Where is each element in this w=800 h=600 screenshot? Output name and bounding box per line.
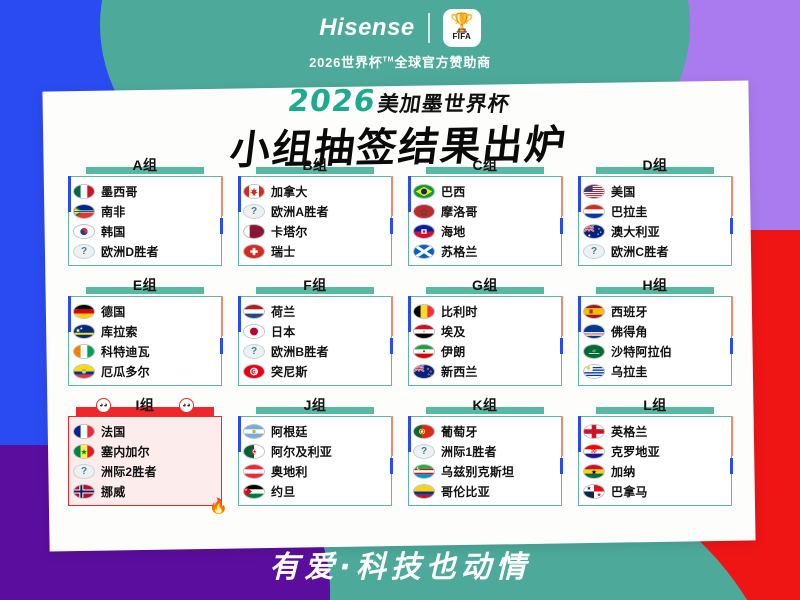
- group-title: L组: [636, 395, 674, 415]
- team-name: 日本: [271, 323, 295, 340]
- team-name: 德国: [101, 303, 125, 320]
- team-row: 挪威: [73, 481, 216, 501]
- flag-icon-mexico: [73, 184, 95, 199]
- group-card-f: F组荷兰日本?欧洲B胜者突尼斯: [238, 274, 392, 386]
- sponsor-prefix: 2026世界杯: [309, 55, 383, 70]
- group-team-list: 美国巴拉圭澳大利亚?欧洲C胜者: [578, 176, 732, 266]
- team-row: ?欧洲D胜者: [73, 241, 216, 261]
- trophy-icon: 🏆: [450, 16, 474, 32]
- flag-icon-switzerland: [243, 244, 265, 259]
- flag-icon-uzbekistan: [413, 463, 435, 478]
- flag-icon-new-zealand: [413, 364, 435, 379]
- team-name: 欧洲C胜者: [611, 243, 669, 260]
- team-name: 佛得角: [611, 323, 648, 340]
- flag-icon-scotland: [413, 244, 435, 259]
- team-name: 摩洛哥: [441, 203, 478, 220]
- group-card-e: E组德国库拉索科特迪瓦厄瓜多尔: [68, 274, 222, 386]
- team-name: 欧洲A胜者: [271, 203, 329, 220]
- flag-icon-brazil: [413, 184, 435, 199]
- flag-icon-unknown: ?: [413, 444, 435, 459]
- team-name: 苏格兰: [441, 243, 478, 260]
- flag-icon-ghana: [583, 464, 605, 479]
- flag-icon-unknown: ?: [583, 244, 605, 259]
- group-team-list: 阿根廷阿尔及利亚奥地利约旦: [238, 416, 392, 506]
- team-name: 乌拉圭: [611, 363, 648, 380]
- team-name: 加拿大: [271, 183, 308, 200]
- group-card-k: K组葡萄牙?洲际1胜者乌兹别克斯坦哥伦比亚: [408, 394, 562, 506]
- flag-icon-jordan: [243, 484, 265, 499]
- accent-tick: [560, 338, 563, 354]
- team-row: 墨西哥: [73, 181, 216, 201]
- flag-icon-norway: [73, 484, 95, 499]
- team-name: 库拉索: [101, 323, 138, 340]
- team-row: ?欧洲C胜者: [583, 241, 726, 261]
- group-card-h: H组西班牙佛得角الله沙特阿拉伯乌拉圭: [578, 274, 732, 386]
- team-name: 欧洲D胜者: [101, 243, 159, 260]
- team-name: 突尼斯: [271, 363, 308, 380]
- team-row: 比利时: [413, 301, 556, 321]
- flag-icon-haiti: [413, 224, 435, 239]
- group-card-g: G组比利时埃及伊朗新西兰: [408, 274, 562, 386]
- team-row: 韩国: [73, 221, 216, 241]
- flag-icon-portugal: [413, 424, 435, 439]
- team-name: 埃及: [441, 323, 465, 340]
- team-name: 哥伦比亚: [441, 483, 490, 500]
- accent-tick: [730, 218, 733, 234]
- team-name: 挪威: [101, 483, 125, 500]
- team-name: 巴拉圭: [611, 203, 648, 220]
- group-header-d: D组: [578, 154, 732, 176]
- team-name: 澳大利亚: [611, 223, 660, 240]
- group-team-list: 葡萄牙?洲际1胜者乌兹别克斯坦哥伦比亚: [408, 416, 562, 506]
- team-row: 佛得角: [583, 321, 726, 341]
- footer-slogan: 有爱·科技也动情: [0, 542, 800, 586]
- team-name: 洲际1胜者: [441, 443, 497, 460]
- team-row: ?欧洲B胜者: [243, 341, 386, 361]
- flag-icon-france: [73, 424, 95, 439]
- flag-icon-south-korea: [73, 224, 95, 239]
- sponsor-suffix: 全球官方赞助商: [394, 55, 491, 70]
- team-name: 南非: [101, 203, 125, 220]
- flag-icon-colombia: [413, 484, 435, 499]
- main-card: 2026美加墨世界杯 小组抽签结果出炉 A组墨西哥南非韩国?欧洲D胜者B组加拿大…: [42, 80, 755, 551]
- team-name: 法国: [101, 423, 125, 440]
- flag-icon-argentina: [243, 424, 265, 439]
- team-row: 荷兰: [243, 301, 386, 321]
- team-name: 韩国: [101, 223, 125, 240]
- group-title: C组: [465, 155, 504, 175]
- team-name: 英格兰: [611, 423, 648, 440]
- group-team-list: 德国库拉索科特迪瓦厄瓜多尔: [68, 296, 222, 386]
- group-card-l: L组英格兰克罗地亚加纳巴拿马: [578, 394, 732, 506]
- accent-tick: [220, 338, 223, 354]
- group-team-list: 西班牙佛得角الله沙特阿拉伯乌拉圭: [578, 296, 732, 386]
- team-row: 英格兰: [583, 421, 726, 441]
- team-row: 哥伦比亚: [413, 481, 556, 501]
- team-row: 日本: [243, 321, 386, 341]
- group-title: B组: [295, 155, 334, 175]
- team-row: 巴拿马: [583, 481, 726, 501]
- flag-icon-tunisia: [243, 364, 265, 379]
- group-header-k: K组: [408, 394, 562, 416]
- group-header-b: B组: [238, 154, 392, 176]
- group-team-list: 荷兰日本?欧洲B胜者突尼斯: [238, 296, 392, 386]
- flag-icon-panama: [583, 484, 605, 499]
- team-name: 美国: [611, 183, 635, 200]
- group-title: F组: [296, 275, 334, 295]
- sponsor-line: 2026世界杯TM全球官方赞助商: [0, 52, 800, 71]
- flag-icon-croatia: [583, 444, 605, 459]
- group-header-h: H组: [578, 274, 732, 296]
- team-name: 厄瓜多尔: [101, 363, 150, 380]
- team-name: 加纳: [611, 463, 635, 480]
- team-row: 埃及: [413, 321, 556, 341]
- team-name: 卡塔尔: [271, 223, 308, 240]
- fire-icon: 🔥: [209, 499, 228, 514]
- team-row: 澳大利亚: [583, 221, 726, 241]
- team-row: 阿根廷: [243, 421, 386, 441]
- team-row: 南非: [73, 201, 216, 221]
- flag-icon-netherlands: [243, 304, 265, 319]
- group-card-b: B组加拿大?欧洲A胜者卡塔尔瑞士: [238, 154, 392, 266]
- accent-tick: [390, 338, 393, 354]
- team-row: 克罗地亚: [583, 441, 726, 461]
- group-header-e: E组: [68, 274, 222, 296]
- team-name: 荷兰: [271, 303, 295, 320]
- team-name: 比利时: [441, 303, 478, 320]
- celebration-face-icon-right: ◕◕: [179, 398, 194, 413]
- flag-icon-austria: [243, 464, 265, 479]
- group-header-a: A组: [68, 154, 222, 176]
- team-name: 约旦: [271, 483, 295, 500]
- svg-text:الله: الله: [592, 348, 597, 352]
- team-row: ?洲际2胜者: [73, 461, 216, 481]
- team-row: 乌兹别克斯坦: [413, 461, 556, 481]
- team-name: 乌兹别克斯坦: [441, 463, 514, 480]
- team-name: 伊朗: [441, 343, 465, 360]
- groups-grid: A组墨西哥南非韩国?欧洲D胜者B组加拿大?欧洲A胜者卡塔尔瑞士C组巴西摩洛哥海地…: [68, 154, 732, 506]
- team-name: 巴西: [441, 183, 465, 200]
- team-row: 库拉索: [73, 321, 216, 341]
- flag-icon-unknown: ?: [73, 244, 95, 259]
- team-row: ?欧洲A胜者: [243, 201, 386, 221]
- team-row: 厄瓜多尔: [73, 361, 216, 381]
- group-header-c: C组: [408, 154, 562, 176]
- flag-icon-unknown: ?: [243, 204, 265, 219]
- group-card-d: D组美国巴拉圭澳大利亚?欧洲C胜者: [578, 154, 732, 266]
- group-team-list: 巴西摩洛哥海地苏格兰: [408, 176, 562, 266]
- flag-icon-saudi-arabia: الله: [583, 343, 605, 358]
- accent-tick: [390, 218, 393, 234]
- title-year: 2026: [285, 84, 377, 119]
- team-row: الله沙特阿拉伯: [583, 341, 726, 361]
- group-team-list: 英格兰克罗地亚加纳巴拿马: [578, 416, 732, 506]
- flag-icon-egypt: [413, 324, 435, 339]
- team-row: 塞内加尔: [73, 441, 216, 461]
- group-card-i: ◕◕◕◕I组🔥法国塞内加尔?洲际2胜者挪威: [68, 394, 222, 506]
- team-row: 伊朗: [413, 341, 556, 361]
- flag-icon-morocco: [413, 204, 435, 219]
- group-title: G组: [465, 275, 505, 295]
- flag-icon-belgium: [413, 304, 435, 319]
- flag-icon-paraguay: [583, 204, 605, 219]
- flag-icon-algeria: [243, 444, 265, 459]
- team-row: 加纳: [583, 461, 726, 481]
- flag-icon-usa: [583, 184, 605, 199]
- header: Hisense 🏆 FIFA 2026世界杯TM全球官方赞助商: [0, 8, 800, 71]
- team-name: 阿根廷: [271, 423, 308, 440]
- flag-icon-senegal: [73, 444, 95, 459]
- flag-icon-australia: [583, 223, 605, 238]
- team-name: 巴拿马: [611, 483, 648, 500]
- team-row: 瑞士: [243, 241, 386, 261]
- flag-icon-curacao: [73, 324, 95, 339]
- group-title: I组: [129, 395, 162, 415]
- flag-icon-qatar: [243, 224, 265, 239]
- team-name: 瑞士: [271, 243, 295, 260]
- accent-tick: [730, 338, 733, 354]
- flag-icon-japan: [243, 324, 265, 339]
- group-team-list: 比利时埃及伊朗新西兰: [408, 296, 562, 386]
- flag-icon-unknown: ?: [73, 464, 95, 479]
- team-row: 突尼斯: [243, 361, 386, 381]
- accent-tick: [220, 218, 223, 234]
- flag-icon-unknown: ?: [243, 344, 265, 359]
- group-header-j: J组: [238, 394, 392, 416]
- team-row: 苏格兰: [413, 241, 556, 261]
- group-card-a: A组墨西哥南非韩国?欧洲D胜者: [68, 154, 222, 266]
- flag-icon-cape-verde: [583, 324, 605, 339]
- group-title: H组: [635, 275, 674, 295]
- group-card-j: J组阿根廷阿尔及利亚奥地利约旦: [238, 394, 392, 506]
- team-row: 约旦: [243, 481, 386, 501]
- team-row: 奥地利: [243, 461, 386, 481]
- team-row: 新西兰: [413, 361, 556, 381]
- footer: 有爱·科技也动情: [0, 542, 800, 586]
- flag-icon-canada: [243, 184, 265, 199]
- fifa-label: FIFA: [453, 32, 472, 41]
- sponsor-tm: TM: [383, 57, 395, 64]
- team-row: 加拿大: [243, 181, 386, 201]
- accent-tick: [560, 458, 563, 474]
- brand-divider: [428, 13, 430, 43]
- team-name: 洲际2胜者: [101, 463, 157, 480]
- team-row: 德国: [73, 301, 216, 321]
- team-name: 西班牙: [611, 303, 648, 320]
- flag-icon-iran: [413, 344, 435, 359]
- team-row: 巴西: [413, 181, 556, 201]
- flag-icon-germany: [73, 304, 95, 319]
- team-name: 奥地利: [271, 463, 308, 480]
- team-row: 科特迪瓦: [73, 341, 216, 361]
- group-team-list: 墨西哥南非韩国?欧洲D胜者: [68, 176, 222, 266]
- team-row: 巴拉圭: [583, 201, 726, 221]
- team-row: 西班牙: [583, 301, 726, 321]
- group-title: E组: [126, 275, 164, 295]
- group-header-l: L组: [578, 394, 732, 416]
- hisense-logo: Hisense: [319, 16, 415, 40]
- team-name: 墨西哥: [101, 183, 138, 200]
- group-title: J组: [297, 395, 334, 415]
- team-name: 塞内加尔: [101, 443, 150, 460]
- team-name: 沙特阿拉伯: [611, 343, 672, 360]
- team-row: ?洲际1胜者: [413, 441, 556, 461]
- flag-icon-spain: [583, 304, 605, 319]
- team-name: 新西兰: [441, 363, 478, 380]
- team-row: 摩洛哥: [413, 201, 556, 221]
- accent-tick: [560, 218, 563, 234]
- accent-tick: [390, 458, 393, 474]
- team-row: 卡塔尔: [243, 221, 386, 241]
- flag-icon-uruguay: [583, 364, 605, 379]
- accent-tick: [730, 458, 733, 474]
- group-card-c: C组巴西摩洛哥海地苏格兰: [408, 154, 562, 266]
- group-title: K组: [465, 395, 504, 415]
- team-row: 葡萄牙: [413, 421, 556, 441]
- group-title: D组: [635, 155, 674, 175]
- team-row: 乌拉圭: [583, 361, 726, 381]
- team-name: 欧洲B胜者: [271, 343, 329, 360]
- team-row: 阿尔及利亚: [243, 441, 386, 461]
- team-name: 葡萄牙: [441, 423, 478, 440]
- group-header-f: F组: [238, 274, 392, 296]
- team-name: 克罗地亚: [611, 443, 660, 460]
- group-title: A组: [125, 155, 164, 175]
- flag-icon-ivory-coast: [73, 344, 95, 359]
- group-team-list: 加拿大?欧洲A胜者卡塔尔瑞士: [238, 176, 392, 266]
- team-name: 阿尔及利亚: [271, 443, 332, 460]
- group-header-g: G组: [408, 274, 562, 296]
- flag-icon-england: [583, 424, 605, 439]
- celebration-face-icon-left: ◕◕: [96, 398, 111, 413]
- team-name: 科特迪瓦: [101, 343, 150, 360]
- fifa-badge: 🏆 FIFA: [443, 9, 481, 47]
- team-name: 海地: [441, 223, 465, 240]
- team-row: 美国: [583, 181, 726, 201]
- team-row: 法国: [73, 421, 216, 441]
- team-row: 海地: [413, 221, 556, 241]
- group-team-list: 🔥法国塞内加尔?洲际2胜者挪威: [68, 416, 222, 506]
- flag-icon-south-africa: [73, 204, 95, 219]
- flag-icon-ecuador: [73, 364, 95, 379]
- brand-row: Hisense 🏆 FIFA: [0, 8, 800, 48]
- group-header-i: ◕◕◕◕I组: [68, 394, 222, 416]
